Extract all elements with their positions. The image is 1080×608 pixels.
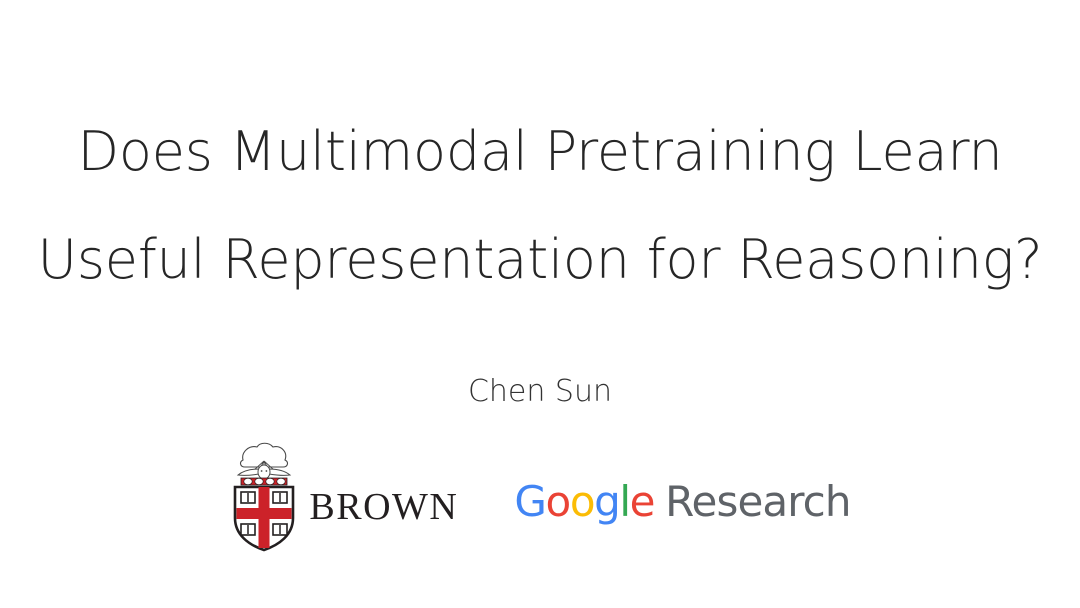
google-letter-0: G [514,477,545,526]
logo-row: BROWN Google Research [0,436,1080,556]
slide-title: Does Multimodal Pretraining Learn Useful… [0,98,1080,314]
google-letter-1: o [546,477,570,526]
brown-university-logo: BROWN [229,436,458,556]
presentation-slide: Does Multimodal Pretraining Learn Useful… [0,0,1080,608]
title-line-2: Useful Representation for Reasoning? [0,206,1080,314]
author-name: Chen Sun [0,372,1080,412]
google-letter-5: e [630,477,654,526]
title-line-1: Does Multimodal Pretraining Learn [0,98,1080,206]
brown-wordmark: BROWN [309,488,458,526]
brown-shield-crest-icon [229,440,299,552]
google-research-logo: Google Research [514,481,850,523]
google-letter-2: o [570,477,594,526]
google-letter-4: l [619,477,629,526]
google-letter-3: g [594,477,619,526]
research-wordmark: Research [665,481,850,523]
google-wordmark: Google [514,481,654,523]
